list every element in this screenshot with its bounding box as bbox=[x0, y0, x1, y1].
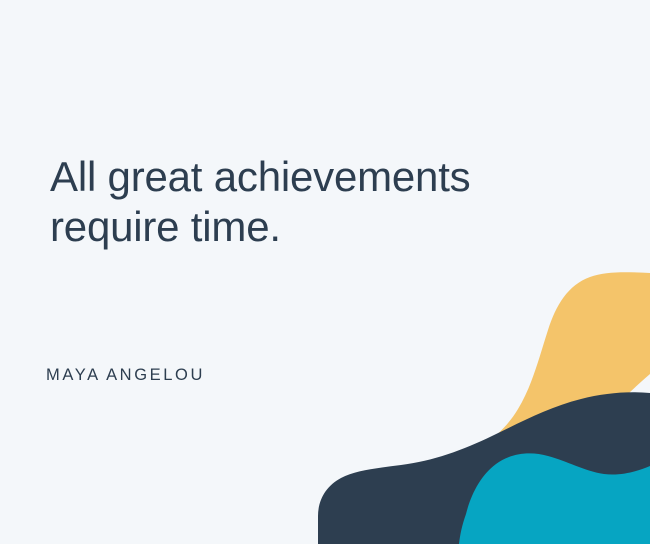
quote-card: All great achievements require time. MAY… bbox=[0, 0, 650, 544]
author-name: MAYA ANGELOU bbox=[46, 364, 205, 386]
quote-text: All great achievements require time. bbox=[50, 152, 595, 252]
card-content: All great achievements require time. MAY… bbox=[0, 0, 650, 544]
